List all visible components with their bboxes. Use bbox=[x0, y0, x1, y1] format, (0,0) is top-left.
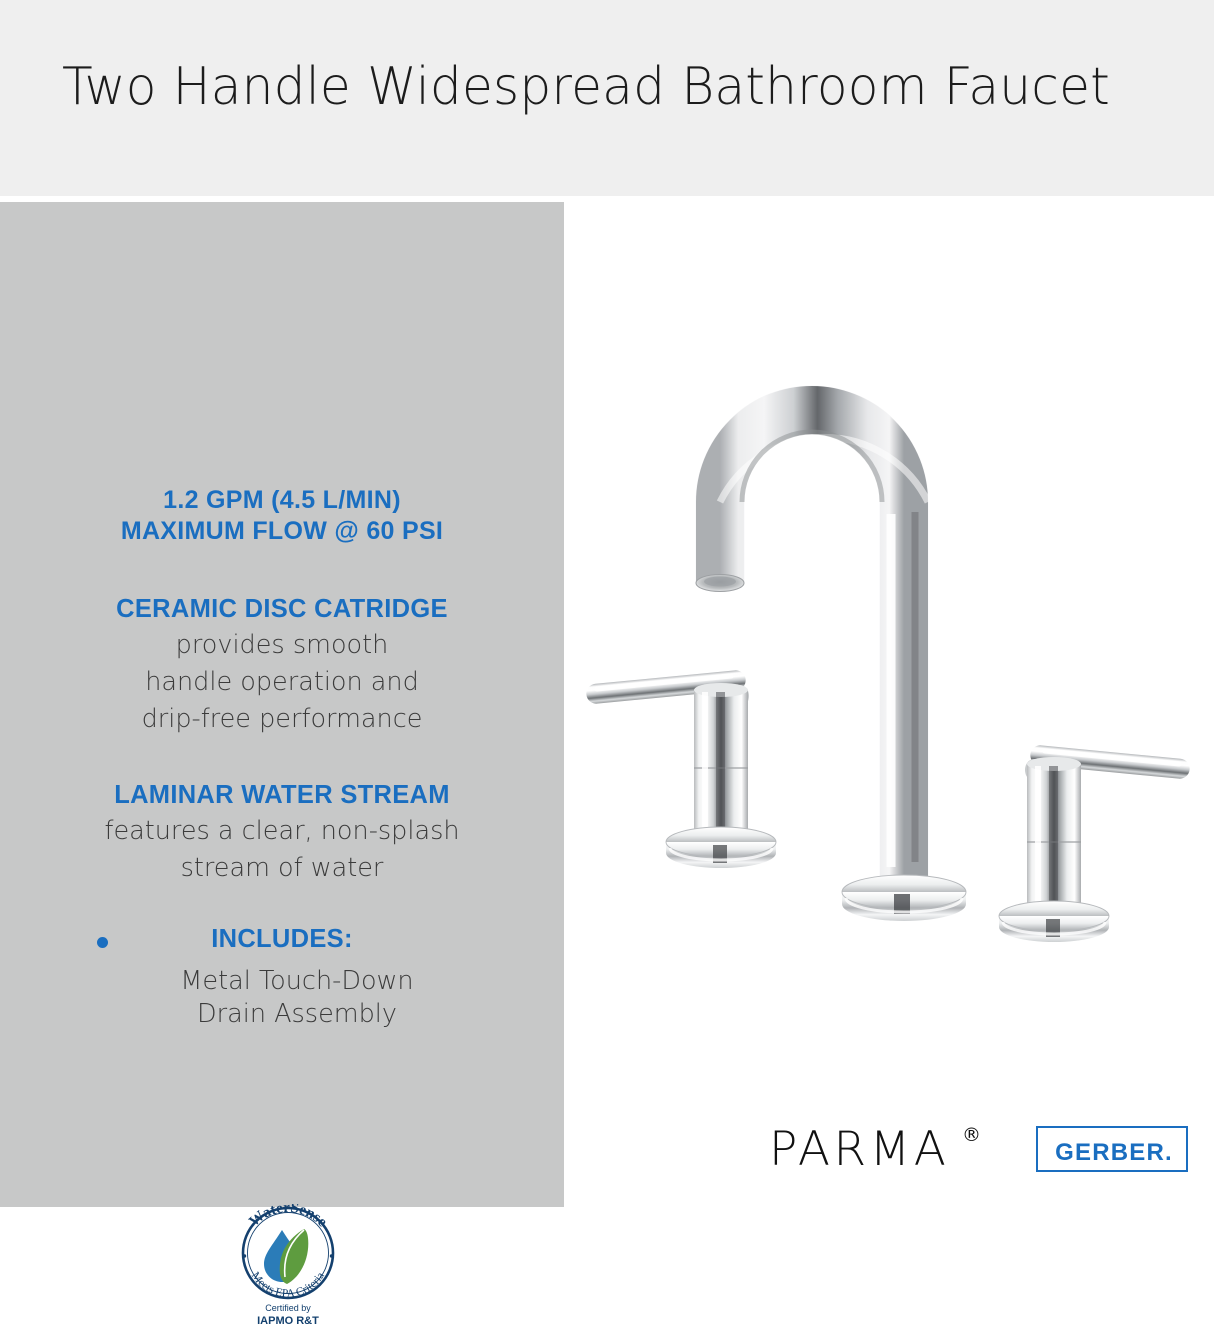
feature-laminar-stream: LAMINAR WATER STREAM features a clear, n… bbox=[0, 780, 564, 885]
product-line-wordmark: PARMA bbox=[769, 1122, 949, 1177]
includes-item-line-1: Metal Touch-Down bbox=[0, 965, 564, 998]
gerber-logo: GERBER. bbox=[1036, 1126, 1188, 1172]
laminar-stream-heading: LAMINAR WATER STREAM bbox=[0, 780, 564, 811]
header-band: Two Handle Widespread Bathroom Faucet bbox=[0, 0, 1214, 196]
ceramic-cartridge-heading: CERAMIC DISC CATRIDGE bbox=[0, 594, 564, 625]
feature-panel: 1.2 GPM (4.5 L/MIN) MAXIMUM FLOW @ 60 PS… bbox=[0, 202, 564, 1207]
watersense-badge: WaterSense Meets EPA Criteria Certified … bbox=[228, 1204, 348, 1344]
includes-heading: INCLUDES: bbox=[0, 924, 564, 955]
includes-list: Metal Touch-Down Drain Assembly bbox=[0, 965, 564, 1031]
product-image bbox=[564, 202, 1214, 1102]
certified-by-label: Certified by bbox=[228, 1302, 348, 1315]
laminar-stream-body-line-1: features a clear, non-splash bbox=[0, 815, 564, 848]
flow-rate-line-1: 1.2 GPM (4.5 L/MIN) bbox=[0, 485, 564, 516]
faucet-right-handle bbox=[999, 744, 1191, 942]
faucet-left-handle bbox=[585, 669, 776, 868]
ceramic-cartridge-body-line-3: drip-free performance bbox=[0, 703, 564, 736]
laminar-stream-body-line-2: stream of water bbox=[0, 852, 564, 885]
page-title: Two Handle Widespread Bathroom Faucet bbox=[62, 57, 1110, 117]
ceramic-cartridge-body-line-1: provides smooth bbox=[0, 629, 564, 662]
registered-trademark-icon: ® bbox=[962, 1124, 981, 1146]
feature-flow-rate: 1.2 GPM (4.5 L/MIN) MAXIMUM FLOW @ 60 PS… bbox=[0, 485, 564, 547]
certification-caption: Certified by IAPMO R&T bbox=[228, 1302, 348, 1328]
feature-includes: INCLUDES: Metal Touch-Down Drain Assembl… bbox=[0, 924, 564, 1031]
gerber-wordmark: GERBER. bbox=[1038, 1139, 1190, 1167]
list-item: Metal Touch-Down Drain Assembly bbox=[0, 965, 564, 1031]
faucet-illustration bbox=[564, 202, 1214, 1102]
ceramic-cartridge-body-line-2: handle operation and bbox=[0, 666, 564, 699]
includes-item-line-2: Drain Assembly bbox=[0, 998, 564, 1031]
certifier-name: IAPMO R&T bbox=[228, 1315, 348, 1328]
bullet-icon bbox=[97, 937, 108, 948]
flow-rate-line-2: MAXIMUM FLOW @ 60 PSI bbox=[0, 516, 564, 547]
watersense-seal-icon: WaterSense Meets EPA Criteria bbox=[228, 1204, 348, 1302]
feature-ceramic-cartridge: CERAMIC DISC CATRIDGE provides smooth ha… bbox=[0, 594, 564, 736]
brand-footer: PARMA ® GERBER. bbox=[760, 1118, 1200, 1184]
